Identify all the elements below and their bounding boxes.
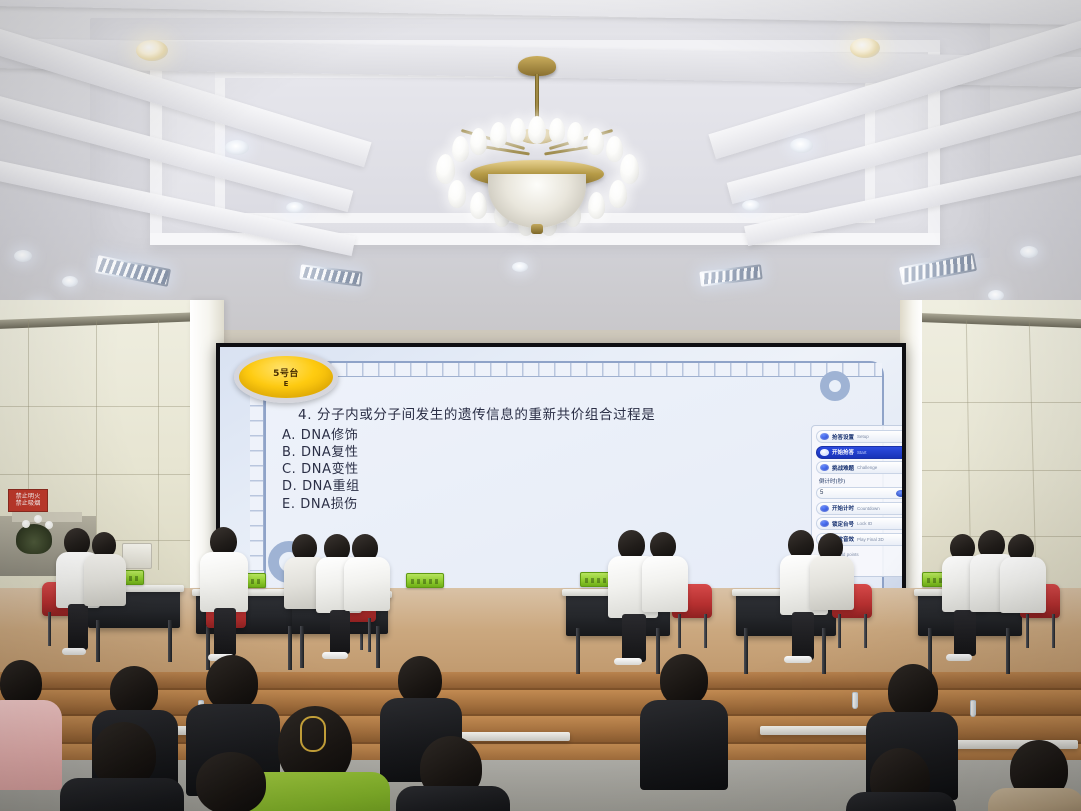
desk-leg <box>576 628 580 674</box>
downlight-icon <box>790 138 813 153</box>
control-lock-label-en: Lock ID <box>857 521 872 526</box>
chair-leg <box>864 614 867 648</box>
desk-leg <box>206 626 210 670</box>
station-badge: 5号台 E <box>234 351 338 403</box>
chandelier-bulb <box>448 180 466 208</box>
desk-leg <box>168 620 172 662</box>
chair-leg <box>678 614 681 648</box>
water-bottle <box>970 700 976 717</box>
control-countdown-label-cn: 开始计时 <box>832 504 854 512</box>
control-sound-label-en: Play Final 3D <box>857 537 884 542</box>
control-row-lock[interactable]: 锁定台号 Lock ID <box>816 517 902 530</box>
desk-leg <box>744 628 748 674</box>
lock-icon <box>820 520 829 527</box>
jacket <box>0 700 62 790</box>
head <box>888 664 938 718</box>
shoe <box>62 648 86 655</box>
chair-leg <box>1052 614 1055 648</box>
leg <box>68 604 88 650</box>
chair-leg <box>368 618 371 652</box>
head <box>206 655 258 711</box>
troffer-light <box>299 264 362 286</box>
chandelier-bulb <box>609 180 627 208</box>
countdown-value: 5 <box>820 490 823 496</box>
control-countdown-label-en: Countdown <box>857 506 880 511</box>
chandelier <box>432 56 642 256</box>
control-challenge-label-cn: 挑战难题 <box>832 464 854 472</box>
play-icon <box>820 449 829 456</box>
downlight-icon <box>136 40 168 61</box>
decor-ring-icon <box>820 371 850 401</box>
control-row-setup[interactable]: 抢答设置 Setup <box>816 430 902 443</box>
desk-leg <box>1006 628 1010 674</box>
downlight-icon <box>14 250 32 262</box>
shoe <box>946 654 972 661</box>
water-bottle <box>852 692 858 709</box>
wall-panel-seam <box>0 474 196 475</box>
question-option-c: C. DNA变性 <box>282 461 878 478</box>
troffer-light <box>699 264 762 286</box>
countdown-input[interactable]: 5 <box>816 487 902 499</box>
chandelier-bulb <box>588 192 605 219</box>
wall-box <box>122 543 152 569</box>
downlight-icon <box>225 140 249 155</box>
leg <box>954 610 976 656</box>
chair-leg <box>838 614 841 648</box>
chandelier-bulb <box>452 136 469 162</box>
lab-coat <box>642 556 688 612</box>
control-start-label-en: Start <box>857 450 867 455</box>
head <box>110 666 158 716</box>
desk-leg <box>822 628 826 674</box>
chandelier-bulb <box>470 128 487 155</box>
desk-leg <box>96 620 100 662</box>
troffer-light <box>95 255 171 287</box>
lab-coat <box>810 556 854 610</box>
question-text: 4. 分子内或分子间发生的遗传信息的重新共价组合过程是 <box>282 403 878 423</box>
desk-leg <box>300 626 304 668</box>
wall-panel-seam <box>158 320 159 570</box>
flower <box>45 521 53 529</box>
chair-leg <box>704 614 707 648</box>
flower <box>22 520 30 528</box>
control-start-label-cn: 开始抢答 <box>832 448 854 456</box>
slide-hatch-left <box>250 375 264 571</box>
station-badge-letter: E <box>284 380 289 388</box>
downlight-icon <box>286 202 304 213</box>
chandelier-bulb <box>567 122 584 148</box>
chair-leg <box>48 612 51 646</box>
lab-coat <box>200 552 248 612</box>
slide-hatch-top <box>266 363 882 377</box>
jacket <box>640 700 728 790</box>
chandelier-bulb <box>620 154 639 184</box>
lecture-hall-photo: 禁止明火 禁止吸烟 5号台 E 4. 分子内或分子间发生的遗传信息的重新共价组合… <box>0 0 1081 811</box>
downlight-icon <box>62 276 78 287</box>
head <box>398 656 442 704</box>
station-badge-number: 5号台 <box>273 366 299 379</box>
control-row-start[interactable]: 开始抢答 Start <box>816 446 902 459</box>
no-smoking-line-2: 禁止吸烟 <box>16 501 41 507</box>
hair-clip <box>300 716 326 752</box>
chandelier-bulb <box>470 192 487 219</box>
wall-panel-seam <box>920 402 1081 403</box>
chandelier-bulb <box>490 122 507 148</box>
stepper-icon[interactable] <box>896 490 902 497</box>
question-option-b: B. DNA复性 <box>282 444 878 461</box>
control-challenge-label-en: Challenge <box>857 465 877 470</box>
desk-leg <box>376 626 380 668</box>
leg <box>214 608 236 656</box>
chandelier-bulb <box>510 118 526 143</box>
question-option-a: A. DNA修饰 <box>282 427 878 444</box>
control-row-challenge[interactable]: 挑战难题 Challenge <box>816 461 902 474</box>
downlight-icon <box>1020 246 1038 258</box>
flower <box>34 515 42 523</box>
downlight-icon <box>742 200 760 211</box>
shoe <box>322 652 348 659</box>
shoe <box>614 658 642 665</box>
desk-leg <box>656 628 660 674</box>
control-setup-label-cn: 抢答设置 <box>832 433 854 441</box>
gear-icon <box>820 433 829 440</box>
downlight-icon <box>850 38 880 58</box>
head <box>660 654 708 706</box>
lab-coat <box>1000 557 1046 613</box>
head <box>196 752 266 811</box>
chandelier-bulb <box>587 128 604 155</box>
chandelier-bulb <box>436 154 455 184</box>
leg <box>622 614 646 662</box>
jacket <box>60 778 184 811</box>
star-icon <box>820 464 829 471</box>
leg <box>792 612 814 660</box>
question-option-e: E. DNA损伤 <box>282 496 878 513</box>
chandelier-finial <box>531 224 543 234</box>
jacket <box>396 786 510 811</box>
timer-icon <box>820 505 829 512</box>
chandelier-bulb <box>528 116 546 144</box>
chair-leg <box>1026 614 1029 648</box>
desk-leg <box>928 628 932 674</box>
lab-coat <box>84 554 126 606</box>
control-row-countdown[interactable]: 开始计时 Countdown <box>816 502 902 515</box>
control-lock-label-cn: 锁定台号 <box>832 520 854 528</box>
jacket <box>846 792 956 811</box>
chandelier-canopy <box>518 56 556 76</box>
shoe <box>784 656 812 663</box>
wall-panel-seam <box>920 470 1081 471</box>
ceiling <box>0 0 1081 330</box>
no-smoking-sign: 禁止明火 禁止吸烟 <box>8 489 48 512</box>
countdown-label: 倒计时(秒) <box>816 477 902 485</box>
chandelier-bulb <box>606 136 623 162</box>
chandelier-bulb <box>549 118 565 143</box>
lab-coat <box>344 557 390 611</box>
leg <box>330 610 350 654</box>
question-option-d: D. DNA重组 <box>282 478 878 495</box>
control-setup-label-en: Setup <box>857 434 869 439</box>
table-placard <box>406 573 444 588</box>
jacket <box>988 788 1081 811</box>
downlight-icon <box>512 262 528 272</box>
quiz-question-block: 4. 分子内或分子间发生的遗传信息的重新共价组合过程是 A. DNA修饰 B. … <box>282 403 878 513</box>
wall-panel-seam <box>0 406 196 407</box>
wall-panel-seam <box>96 320 97 570</box>
